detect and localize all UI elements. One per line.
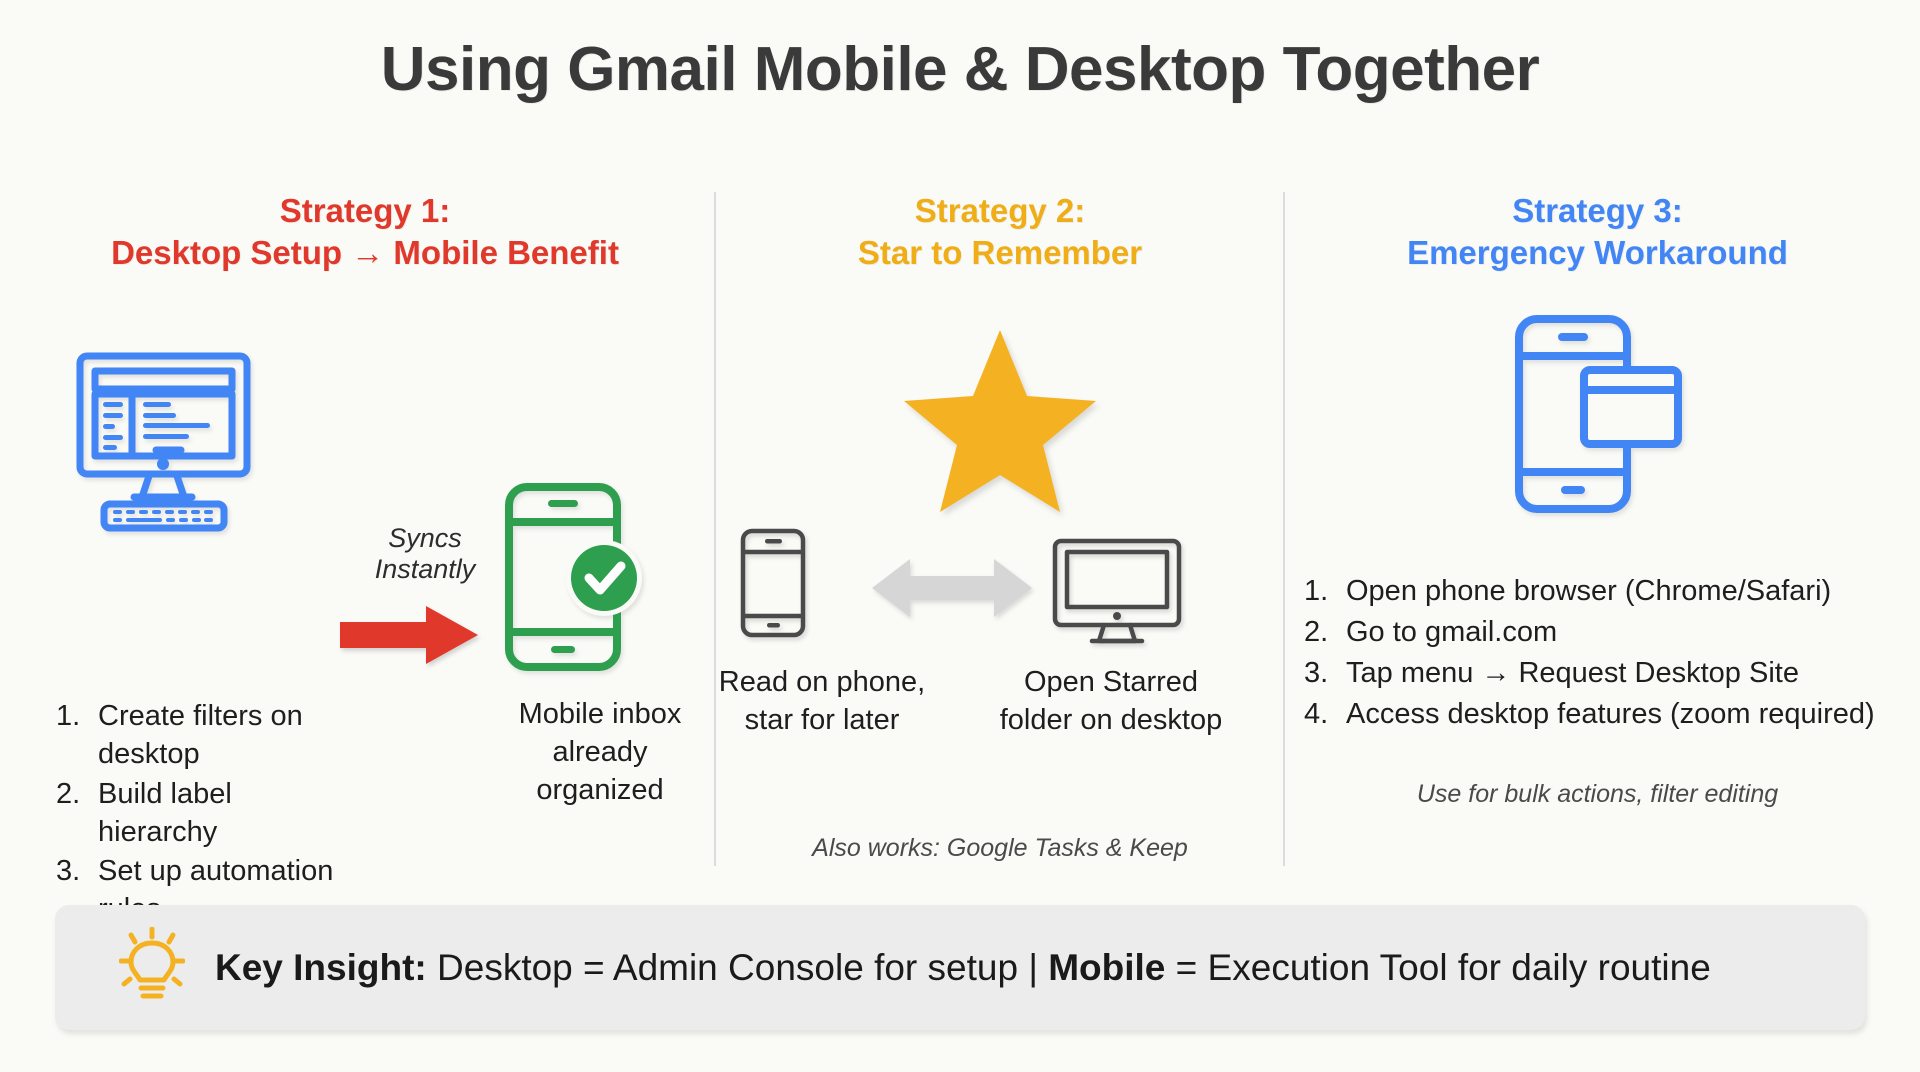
lightbulb-icon	[119, 927, 185, 1010]
key-insight-text: Key Insight: Desktop = Admin Console for…	[215, 947, 1711, 989]
strategy-3-heading: Strategy 3: Emergency Workaround	[1290, 190, 1905, 274]
key-insight-part-2: = Execution Tool for daily routine	[1165, 947, 1710, 988]
caption-line1: Open Starred	[946, 664, 1276, 701]
list-item: 3.Tap menu → Request Desktop Site	[1304, 654, 1905, 693]
strategy-2-captions: Read on phone, star for later Open Starr…	[720, 664, 1280, 774]
strategy-2-heading: Strategy 2: Star to Remember	[720, 190, 1280, 274]
page-title: Using Gmail Mobile & Desktop Together	[0, 34, 1920, 105]
gray-phone-icon	[740, 528, 806, 643]
step-number: 3.	[1304, 654, 1346, 693]
phone-desktop-site-icon	[1290, 314, 1905, 524]
mobile-caption-line2: already	[480, 734, 720, 772]
column-divider-2	[1283, 192, 1285, 866]
strategy-1-heading-line2: Desktop Setup → Mobile Benefit	[20, 232, 710, 274]
gold-star-icon	[720, 326, 1280, 516]
mobile-caption-line3: organized	[480, 772, 720, 810]
strategy-3-column: Strategy 3: Emergency Workaround	[1290, 190, 1905, 809]
caption-line1: Read on phone,	[692, 664, 952, 701]
gray-monitor-icon	[1052, 538, 1182, 651]
key-insight-part-1: Desktop = Admin Console for setup |	[427, 947, 1048, 988]
list-item: 2.Go to gmail.com	[1304, 613, 1905, 652]
key-insight-bar: Key Insight: Desktop = Admin Console for…	[55, 905, 1865, 1030]
step-number: 1.	[1304, 572, 1346, 611]
step-text: Tap menu → Request Desktop Site	[1346, 657, 1799, 689]
step-number: 2.	[56, 776, 98, 814]
open-starred-caption: Open Starred folder on desktop	[946, 664, 1276, 738]
sync-label-line2: Instantly	[360, 554, 490, 585]
strategy-2-column: Strategy 2: Star to Remember	[720, 190, 1280, 863]
caption-line2: folder on desktop	[946, 702, 1276, 739]
strategy-1-steps: 1.Create filters on desktop 2.Build labe…	[56, 698, 346, 930]
mobile-caption-line1: Mobile inbox	[480, 696, 720, 734]
strategy-1-text-block: 1.Create filters on desktop 2.Build labe…	[20, 618, 710, 888]
step-number: 3.	[56, 853, 98, 891]
step-number: 4.	[1304, 695, 1346, 734]
double-arrow-icon	[872, 556, 1032, 625]
list-item: 1.Open phone browser (Chrome/Safari)	[1304, 572, 1905, 611]
strategy-1-illustration: Syncs Instantly	[20, 288, 710, 618]
infographic-canvas: Using Gmail Mobile & Desktop Together St…	[0, 0, 1920, 1072]
mobile-inbox-caption: Mobile inbox already organized	[480, 696, 720, 809]
key-insight-mobile-label: Mobile	[1048, 947, 1165, 988]
caption-line2: star for later	[692, 702, 952, 739]
strategy-3-heading-line1: Strategy 3:	[1290, 190, 1905, 232]
strategy-2-footnote: Also works: Google Tasks & Keep	[720, 834, 1280, 863]
strategy-2-heading-line1: Strategy 2:	[720, 190, 1280, 232]
strategy-1-heading-line1: Strategy 1:	[20, 190, 710, 232]
list-item: 1.Create filters on desktop	[56, 698, 346, 773]
strategy-1-heading: Strategy 1: Desktop Setup → Mobile Benef…	[20, 190, 710, 274]
strategy-1-column: Strategy 1: Desktop Setup → Mobile Benef…	[20, 190, 710, 888]
desktop-monitor-icon	[76, 352, 251, 537]
sync-label-line1: Syncs	[360, 523, 490, 554]
step-text: Access desktop features (zoom required)	[1346, 698, 1875, 730]
step-text: Build label hierarchy	[98, 778, 232, 848]
key-insight-label: Key Insight:	[215, 947, 427, 988]
strategy-2-heading-line2: Star to Remember	[720, 232, 1280, 274]
step-text: Create filters on desktop	[98, 700, 303, 770]
list-item: 2.Build label hierarchy	[56, 776, 346, 851]
step-number: 1.	[56, 698, 98, 736]
sync-label: Syncs Instantly	[360, 523, 490, 585]
step-number: 2.	[1304, 613, 1346, 652]
strategy-3-heading-line2: Emergency Workaround	[1290, 232, 1905, 274]
step-text: Open phone browser (Chrome/Safari)	[1346, 575, 1831, 607]
strategy-3-footnote: Use for bulk actions, filter editing	[1290, 780, 1905, 809]
strategy-3-steps: 1.Open phone browser (Chrome/Safari) 2.G…	[1304, 572, 1905, 733]
step-text: Go to gmail.com	[1346, 616, 1557, 648]
list-item: 4.Access desktop features (zoom required…	[1304, 695, 1905, 734]
strategy-2-exchange-row	[720, 528, 1280, 648]
read-on-phone-caption: Read on phone, star for later	[692, 664, 952, 738]
